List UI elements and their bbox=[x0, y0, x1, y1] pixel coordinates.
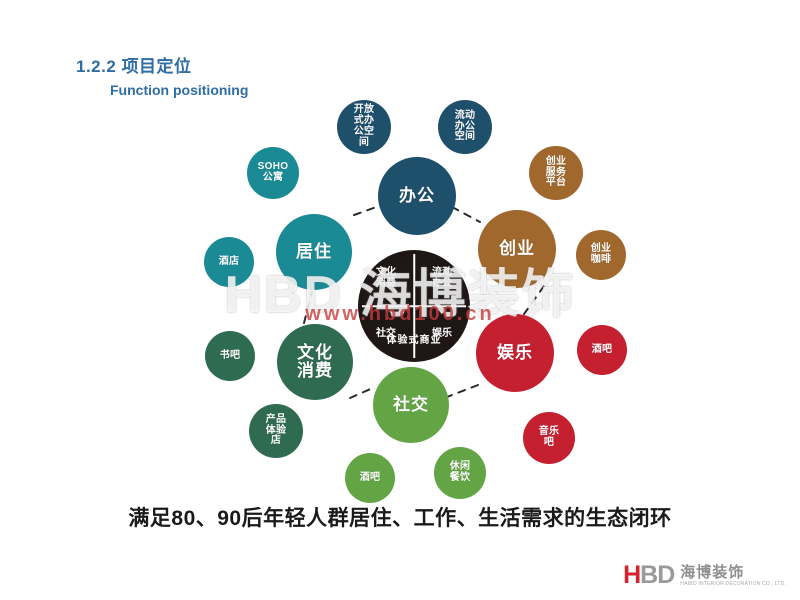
core-quadrant-top-left: 文化 消费 bbox=[358, 250, 414, 306]
node-label-mobile-office: 流动 办公 空间 bbox=[455, 111, 476, 143]
logo-name-cn: 海博装饰 bbox=[680, 565, 786, 581]
node-entertainment[interactable]: 娱乐 bbox=[476, 314, 554, 392]
node-bar-red[interactable]: 酒吧 bbox=[577, 325, 627, 375]
node-open-office[interactable]: 开放 式办 公空 间 bbox=[337, 100, 391, 154]
node-social[interactable]: 社交 bbox=[373, 367, 449, 443]
node-living[interactable]: 居住 bbox=[276, 214, 352, 290]
core-horizontal-divider bbox=[362, 305, 465, 307]
node-label-music-bar: 音乐 吧 bbox=[539, 427, 560, 449]
slide-caption: 满足80、90后年轻人群居住、工作、生活需求的生态闭环 bbox=[0, 502, 800, 532]
node-label-bar-red: 酒吧 bbox=[592, 345, 613, 356]
node-label-bookbar: 书吧 bbox=[220, 351, 241, 362]
node-bar-green[interactable]: 酒吧 bbox=[345, 453, 395, 503]
node-bookbar[interactable]: 书吧 bbox=[205, 331, 255, 381]
node-office[interactable]: 办公 bbox=[378, 157, 456, 235]
node-hotel[interactable]: 酒店 bbox=[204, 237, 254, 287]
logo-letters: HBD bbox=[623, 563, 674, 588]
node-label-open-office: 开放 式办 公空 间 bbox=[354, 105, 375, 148]
node-startup-cafe[interactable]: 创业 咖啡 bbox=[576, 230, 626, 280]
node-soho[interactable]: SOHO 公寓 bbox=[247, 147, 299, 199]
node-label-social: 社交 bbox=[393, 396, 429, 414]
node-label-bar-green: 酒吧 bbox=[360, 473, 381, 484]
core-circle: 文化 消费 流动 办公 社交 娱乐 体验式商业 bbox=[358, 250, 470, 362]
core-quadrant-top-right: 流动 办公 bbox=[414, 250, 470, 306]
logo-name-en: HAIBO INTERIOR DECORATION CO., LTD. bbox=[680, 581, 786, 588]
node-label-culture: 文化 消费 bbox=[297, 344, 333, 381]
node-label-entertainment: 娱乐 bbox=[497, 344, 533, 362]
node-culture[interactable]: 文化 消费 bbox=[277, 324, 353, 400]
node-label-leisure-dining: 休闲 餐饮 bbox=[450, 462, 471, 484]
node-label-startup: 创业 bbox=[499, 240, 535, 258]
node-label-product-store: 产品 体验 店 bbox=[266, 415, 287, 447]
logo-wordmark: 海博装饰 HAIBO INTERIOR DECORATION CO., LTD. bbox=[680, 565, 786, 588]
logo-letters-bd: BD bbox=[640, 561, 674, 589]
slide-canvas: 1.2.2 项目定位 Function positioning 文化 消费 流动… bbox=[0, 0, 800, 600]
node-mobile-office[interactable]: 流动 办公 空间 bbox=[438, 100, 492, 154]
logo-letter-h: H bbox=[623, 561, 640, 589]
company-logo: HBD 海博装饰 HAIBO INTERIOR DECORATION CO., … bbox=[623, 563, 786, 588]
node-label-startup-platform: 创业 服务 平台 bbox=[546, 157, 567, 189]
node-label-living: 居住 bbox=[296, 243, 332, 261]
node-label-startup-cafe: 创业 咖啡 bbox=[591, 244, 612, 266]
core-center-label: 体验式商业 bbox=[358, 331, 470, 346]
node-music-bar[interactable]: 音乐 吧 bbox=[523, 412, 575, 464]
node-startup[interactable]: 创业 bbox=[478, 210, 556, 288]
node-leisure-dining[interactable]: 休闲 餐饮 bbox=[434, 447, 486, 499]
node-label-soho: SOHO 公寓 bbox=[258, 162, 289, 184]
node-startup-platform[interactable]: 创业 服务 平台 bbox=[529, 146, 583, 200]
node-product-store[interactable]: 产品 体验 店 bbox=[249, 404, 303, 458]
node-label-hotel: 酒店 bbox=[219, 257, 240, 268]
node-label-office: 办公 bbox=[399, 187, 435, 205]
